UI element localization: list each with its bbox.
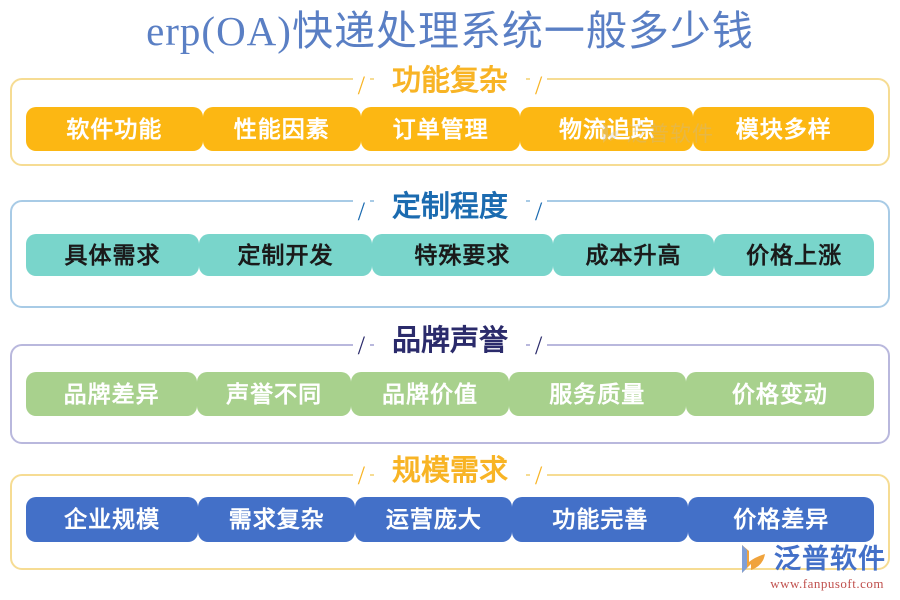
pill-item[interactable]: 品牌价值 xyxy=(351,372,509,416)
pill-item[interactable]: 企业规模 xyxy=(26,497,198,542)
brand-row: 泛普软件 xyxy=(738,543,886,575)
pill-item[interactable]: 需求复杂 xyxy=(198,497,355,542)
pill-item[interactable]: 服务质量 xyxy=(509,372,686,416)
pill-item[interactable]: 声誉不同 xyxy=(197,372,351,416)
brand-name: 泛普软件 xyxy=(774,544,886,574)
pill-item[interactable]: 价格差异 xyxy=(688,497,874,542)
page-title: erp(OA)快递处理系统一般多少钱 xyxy=(0,4,900,58)
pill-item[interactable]: 功能完善 xyxy=(512,497,688,542)
pill-item[interactable]: 订单管理 xyxy=(361,107,521,151)
pill-item[interactable]: 软件功能 xyxy=(26,107,203,151)
pill-row-4: 企业规模 需求复杂 运营庞大 功能完善 价格差异 xyxy=(26,497,874,542)
pill-item[interactable]: 模块多样 xyxy=(693,107,874,151)
pill-item[interactable]: 品牌差异 xyxy=(26,372,197,416)
brand-url: www.fanpusoft.com xyxy=(770,576,884,592)
pill-item[interactable]: 物流追踪 xyxy=(520,107,693,151)
pill-item[interactable]: 成本升高 xyxy=(553,234,715,276)
pill-item[interactable]: 价格变动 xyxy=(686,372,874,416)
pill-item[interactable]: 具体需求 xyxy=(26,234,199,276)
pill-item[interactable]: 定制开发 xyxy=(199,234,372,276)
fanpu-logo-icon xyxy=(738,543,768,575)
pill-item[interactable]: 价格上涨 xyxy=(714,234,874,276)
pill-item[interactable]: 性能因素 xyxy=(203,107,361,151)
pill-item[interactable]: 运营庞大 xyxy=(355,497,512,542)
pill-item[interactable]: 特殊要求 xyxy=(372,234,553,276)
pill-row-1: 软件功能 性能因素 订单管理 物流追踪 模块多样 xyxy=(26,107,874,151)
brand-logo: 泛普软件 www.fanpusoft.com xyxy=(738,543,886,592)
pill-row-2: 具体需求 定制开发 特殊要求 成本升高 价格上涨 xyxy=(26,234,874,276)
pill-row-3: 品牌差异 声誉不同 品牌价值 服务质量 价格变动 xyxy=(26,372,874,416)
